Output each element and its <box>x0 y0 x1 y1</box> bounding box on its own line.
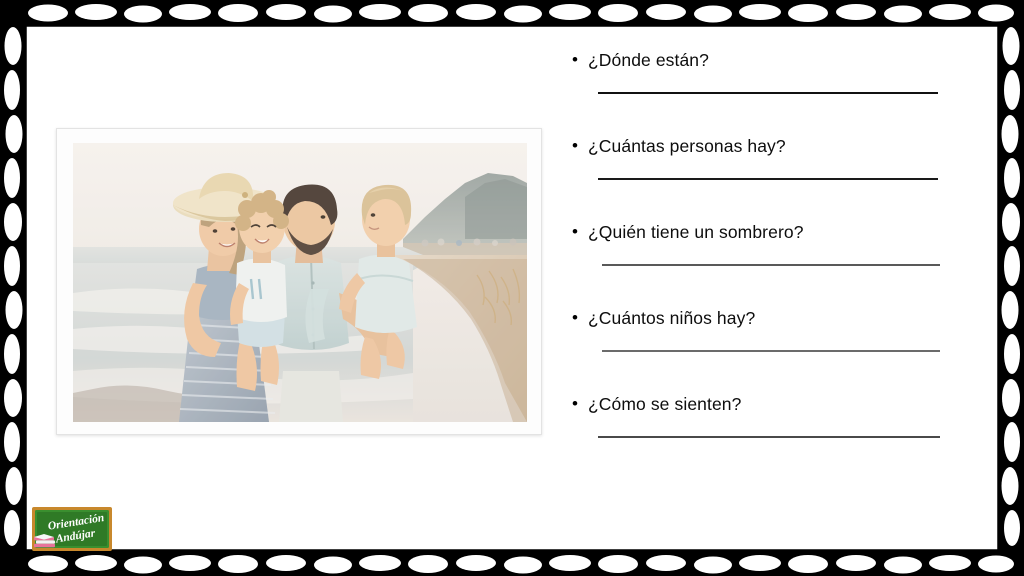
question-text: ¿Cómo se sienten? <box>588 390 741 418</box>
answer-line[interactable] <box>598 92 938 94</box>
border-band-right <box>998 0 1024 576</box>
bullet-icon: • <box>566 218 588 246</box>
border-band-bottom <box>0 550 1024 576</box>
border-band-top <box>0 0 1024 26</box>
questions-list: • ¿Dónde están? • ¿Cuántas personas hay?… <box>566 46 958 466</box>
question-item: • ¿Cómo se sienten? <box>566 390 958 438</box>
question-item: • ¿Quién tiene un sombrero? <box>566 218 958 266</box>
beach-family-photo <box>73 143 527 422</box>
question-text: ¿Cuántas personas hay? <box>588 132 786 160</box>
question-text: ¿Quién tiene un sombrero? <box>588 218 804 246</box>
question-item: • ¿Cuántos niños hay? <box>566 304 958 352</box>
bullet-icon: • <box>566 46 588 74</box>
answer-line[interactable] <box>602 350 940 352</box>
chalkboard-logo-icon: Orientación Andújar <box>28 505 116 555</box>
answer-line[interactable] <box>602 264 940 266</box>
photo-illustration <box>73 143 527 422</box>
bullet-icon: • <box>566 390 588 418</box>
answer-line[interactable] <box>598 436 940 438</box>
question-text: ¿Cuántos niños hay? <box>588 304 755 332</box>
answer-line[interactable] <box>598 178 938 180</box>
question-text: ¿Dónde están? <box>588 46 709 74</box>
photo-card <box>56 128 542 435</box>
bullet-icon: • <box>566 304 588 332</box>
question-item: • ¿Dónde están? <box>566 46 958 94</box>
slide-canvas: • ¿Dónde están? • ¿Cuántas personas hay?… <box>0 0 1024 576</box>
question-item: • ¿Cuántas personas hay? <box>566 132 958 180</box>
border-band-left <box>0 0 26 576</box>
orientacion-andujar-logo[interactable]: Orientación Andújar <box>28 505 116 555</box>
bullet-icon: • <box>566 132 588 160</box>
